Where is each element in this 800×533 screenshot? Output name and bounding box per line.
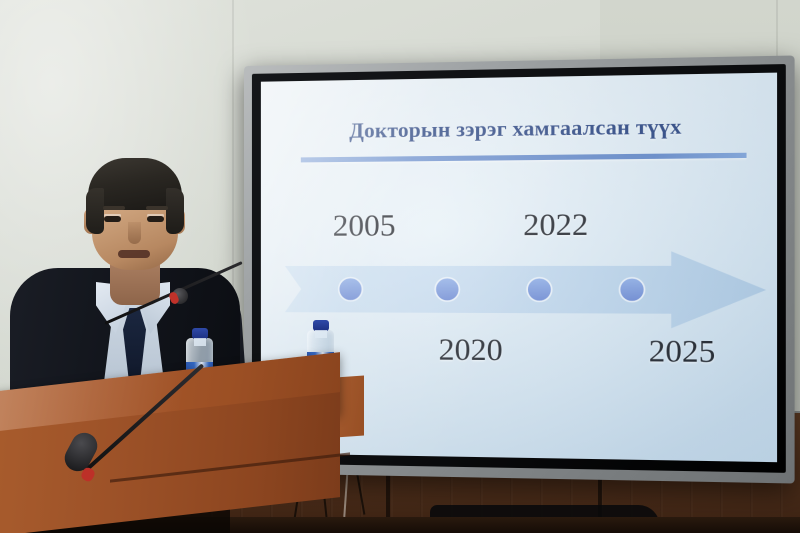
timeline-marker	[527, 278, 552, 302]
year-label-2005: 2005	[333, 207, 396, 244]
nose	[128, 222, 141, 244]
eye-left	[104, 216, 121, 222]
bottle-neck	[315, 330, 327, 338]
bottle-neck	[194, 338, 206, 346]
timeline-marker	[339, 278, 363, 301]
timeline-arrow	[279, 249, 769, 331]
eye-right	[147, 216, 164, 222]
year-label-2020: 2020	[439, 331, 503, 368]
hair-side-right	[166, 188, 184, 234]
year-label-2022: 2022	[523, 206, 588, 243]
mouth	[118, 250, 150, 258]
eyebrow-right	[146, 206, 168, 210]
year-label-2025: 2025	[649, 332, 716, 370]
slide-title: Докторын зэрэг хамгаалсан түүх	[261, 113, 777, 145]
presentation-photo: Докторын зэрэг хамгаалсан түүх 2005 2022	[0, 0, 800, 533]
timeline-marker	[435, 278, 459, 301]
title-underline-rule	[301, 153, 747, 163]
hair-side-left	[86, 188, 104, 234]
timeline-marker	[620, 278, 645, 302]
eyebrow-left	[103, 206, 125, 210]
